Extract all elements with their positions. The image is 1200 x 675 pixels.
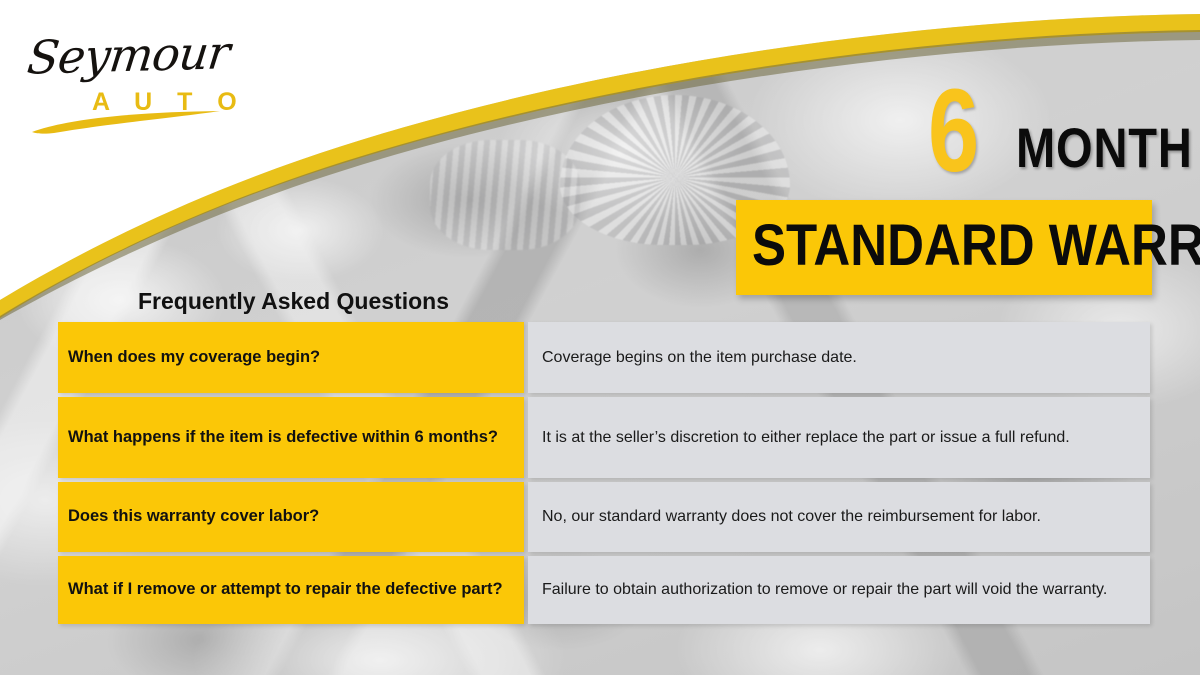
faq-answer-cell: Failure to obtain authorization to remov… xyxy=(528,556,1150,624)
faq-question-text: What happens if the item is defective wi… xyxy=(68,427,498,448)
table-row: What if I remove or attempt to repair th… xyxy=(58,556,1150,624)
faq-answer-text: It is at the seller’s discretion to eith… xyxy=(542,427,1138,448)
table-row: What happens if the item is defective wi… xyxy=(58,397,1150,478)
faq-section-title: Frequently Asked Questions xyxy=(138,288,449,315)
faq-question-cell: What happens if the item is defective wi… xyxy=(58,397,524,478)
faq-question-text: What if I remove or attempt to repair th… xyxy=(68,579,503,600)
faq-question-text: Does this warranty cover labor? xyxy=(68,506,319,527)
faq-answer-cell: It is at the seller’s discretion to eith… xyxy=(528,397,1150,478)
faq-question-text: When does my coverage begin? xyxy=(68,347,320,368)
faq-question-cell: When does my coverage begin? xyxy=(58,322,524,393)
seymour-auto-logo: Seymour A U T O xyxy=(20,22,255,137)
logo-script-text: Seymour xyxy=(25,25,232,84)
faq-question-cell: Does this warranty cover labor? xyxy=(58,482,524,552)
faq-answer-text: Coverage begins on the item purchase dat… xyxy=(542,347,1138,368)
faq-table: When does my coverage begin? Coverage be… xyxy=(58,322,1150,624)
logo-swoosh-icon xyxy=(20,106,255,134)
duration-unit: MONTH xyxy=(1016,120,1193,176)
faq-answer-text: Failure to obtain authorization to remov… xyxy=(542,579,1138,600)
warranty-slide: Seymour A U T O 6 MONTH STANDARD WARRANT… xyxy=(0,0,1200,675)
faq-answer-cell: No, our standard warranty does not cover… xyxy=(528,482,1150,552)
faq-answer-cell: Coverage begins on the item purchase dat… xyxy=(528,322,1150,393)
faq-question-cell: What if I remove or attempt to repair th… xyxy=(58,556,524,624)
table-row: Does this warranty cover labor? No, our … xyxy=(58,482,1150,552)
standard-warranty-banner-text: STANDARD WARRANTY xyxy=(752,217,1200,275)
faq-answer-text: No, our standard warranty does not cover… xyxy=(542,506,1138,527)
standard-warranty-banner: STANDARD WARRANTY xyxy=(736,200,1152,295)
duration-number: 6 xyxy=(928,72,979,190)
table-row: When does my coverage begin? Coverage be… xyxy=(58,322,1150,393)
